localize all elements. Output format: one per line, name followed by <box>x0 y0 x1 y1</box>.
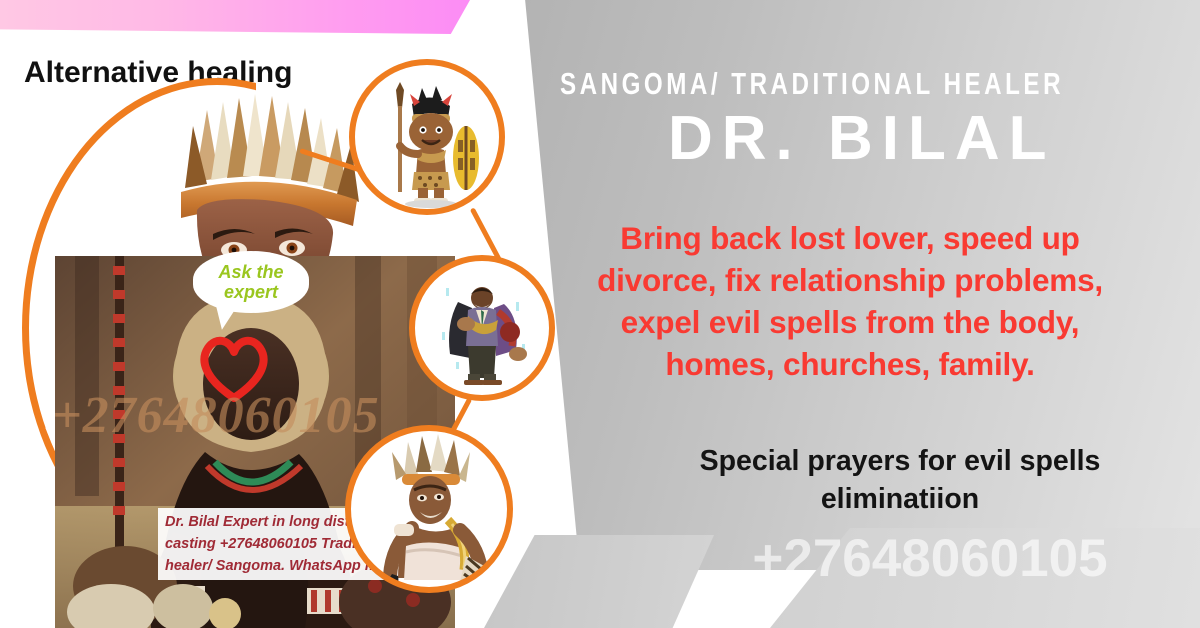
prayer-line-2: eliminatiion <box>620 481 1180 519</box>
services-line-3: expel evil spells from the body, <box>540 302 1160 344</box>
speech-bubble: Ask the expert <box>193 251 309 313</box>
poster-canvas: Alternative healing <box>0 0 1200 628</box>
badge-healer-cape <box>412 258 552 398</box>
services-text: Bring back lost lover, speed up divorce,… <box>540 218 1160 386</box>
prayer-text: Special prayers for evil spells eliminat… <box>620 443 1180 519</box>
speech-bubble-label: Ask the expert <box>193 262 309 302</box>
services-line-2: divorce, fix relationship problems, <box>540 260 1160 302</box>
kicker-text: SANGOMA/ TRADITIONAL HEALER <box>560 66 1044 102</box>
services-line-1: Bring back lost lover, speed up <box>540 218 1160 260</box>
services-line-4: homes, churches, family. <box>540 344 1160 386</box>
prayer-line-1: Special prayers for evil spells <box>620 443 1180 481</box>
badge-crouching-warrior <box>348 428 510 590</box>
contact-phone-watermark: +27648060105 <box>660 528 1200 589</box>
healer-name: DR. BILAL <box>668 103 1056 174</box>
badge-zulu-warrior <box>352 62 502 212</box>
pink-accent-bar <box>0 0 470 34</box>
